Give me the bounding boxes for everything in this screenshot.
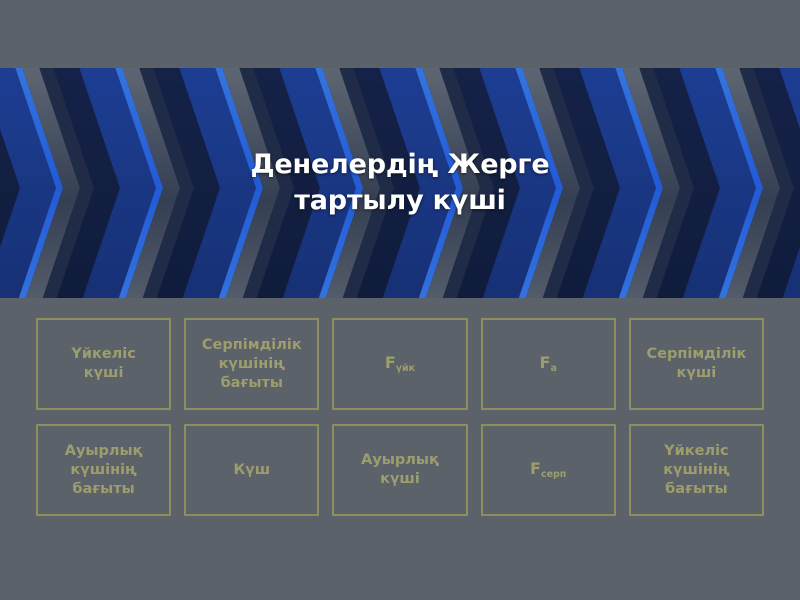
term-card-label: Үйкеліс күшінің бағыты xyxy=(663,442,729,499)
term-card-label: Fүйк xyxy=(385,353,415,375)
term-card-label: Серпімділік күші xyxy=(646,345,746,383)
term-card[interactable]: Үйкеліс күші xyxy=(36,318,171,410)
formula-subscript: а xyxy=(550,363,556,374)
term-card[interactable]: Серпімділік күші xyxy=(629,318,764,410)
term-card[interactable]: Үйкеліс күшінің бағыты xyxy=(629,424,764,516)
formula-symbol: F xyxy=(530,459,541,478)
term-card[interactable]: Fа xyxy=(481,318,616,410)
formula-subscript: үйк xyxy=(396,363,415,374)
term-card-label: Серпімділік күшінің бағыты xyxy=(202,336,302,393)
term-card[interactable]: Ауырлық күшінің бағыты xyxy=(36,424,171,516)
term-card-label: Үйкеліс күші xyxy=(71,345,136,383)
term-card-label: Fа xyxy=(540,353,557,375)
formula-subscript: серп xyxy=(541,469,566,480)
term-card[interactable]: Күш xyxy=(184,424,319,516)
term-card-grid: Үйкеліс күшіСерпімділік күшінің бағытыFү… xyxy=(36,318,764,516)
term-card[interactable]: Ауырлық күші xyxy=(332,424,467,516)
slide-root: Денелердің Жерге тартылу күші Үйкеліс кү… xyxy=(0,0,800,600)
term-card-label: Ауырлық күшінің бағыты xyxy=(65,442,143,499)
term-card[interactable]: Fүйк xyxy=(332,318,467,410)
term-card[interactable]: Fсерп xyxy=(481,424,616,516)
chevron-pattern-graphic xyxy=(0,68,800,298)
formula-symbol: F xyxy=(540,353,551,372)
term-card-label: Күш xyxy=(233,461,270,480)
term-card-label: Fсерп xyxy=(530,459,566,481)
formula-symbol: F xyxy=(385,353,396,372)
title-banner: Денелердің Жерге тартылу күші xyxy=(0,68,800,298)
term-card-label: Ауырлық күші xyxy=(361,451,439,489)
term-card[interactable]: Серпімділік күшінің бағыты xyxy=(184,318,319,410)
